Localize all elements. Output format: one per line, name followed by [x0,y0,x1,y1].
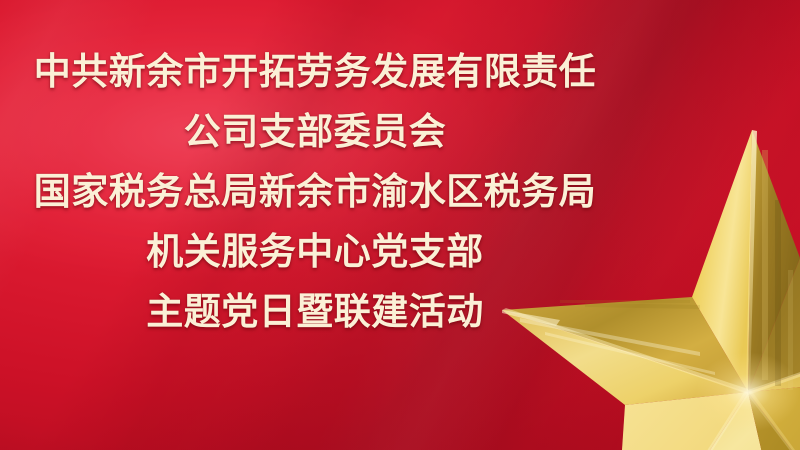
headline-block: 中共新余市开拓劳务发展有限责任 公司支部委员会 国家税务总局新余市渝水区税务局 … [10,42,620,342]
headline-line-3: 国家税务总局新余市渝水区税务局 [10,162,620,222]
headline-line-2: 公司支部委员会 [10,102,620,162]
headline-line-1: 中共新余市开拓劳务发展有限责任 [10,42,620,102]
headline-line-4: 机关服务中心党支部 [10,222,620,282]
event-banner: 中共新余市开拓劳务发展有限责任 公司支部委员会 国家税务总局新余市渝水区税务局 … [0,0,800,450]
headline-line-5: 主题党日暨联建活动 [10,282,620,342]
